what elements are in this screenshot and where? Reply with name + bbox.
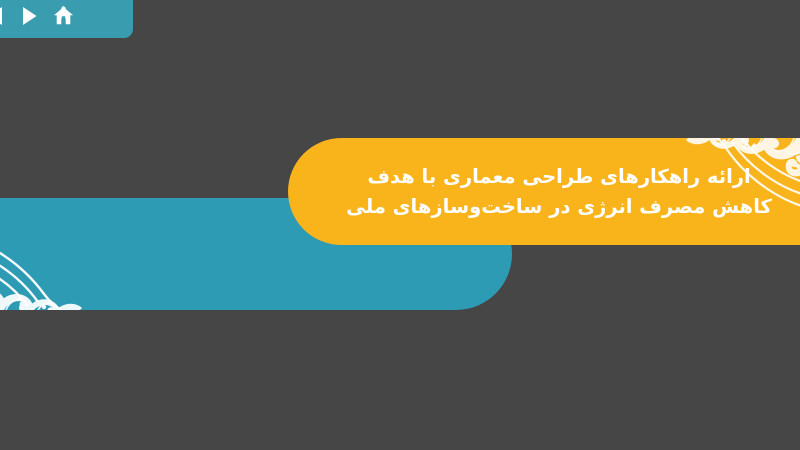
next-arrow-icon	[21, 6, 38, 26]
home-button[interactable]	[46, 1, 80, 31]
previous-button[interactable]	[0, 1, 12, 31]
persian-arabesque-ornament-icon	[0, 198, 170, 310]
slide-navigation-toolbar	[0, 0, 133, 38]
home-icon	[52, 5, 75, 27]
title-text-block: ارائه راهکارهای طراحی معماری با هدف کاهش…	[288, 138, 800, 245]
title-banner: ارائه راهکارهای طراحی معماری با هدف کاهش…	[288, 138, 800, 245]
title-line-2: کاهش مصرف انرژی در ساخت‌وسازهای ملی	[346, 192, 772, 222]
title-line-1: ارائه راهکارهای طراحی معماری با هدف	[367, 162, 750, 192]
next-button[interactable]	[12, 1, 46, 31]
previous-arrow-icon	[0, 6, 4, 26]
presentation-slide: ارائه راهکارهای طراحی معماری با هدف کاهش…	[0, 0, 800, 450]
